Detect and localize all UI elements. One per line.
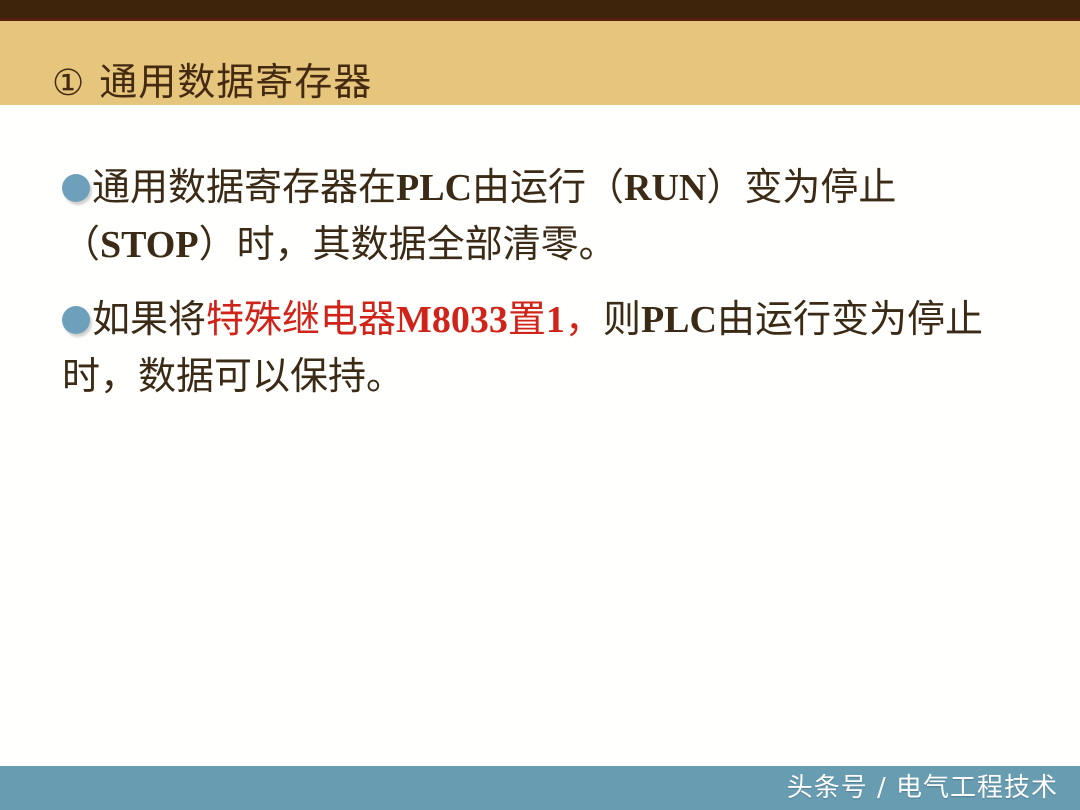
bullet-1-seg-5: STOP: [100, 224, 199, 266]
bullet-dot-icon: [62, 174, 90, 202]
bullet-2-seg-1: 特殊继电器: [206, 299, 396, 341]
bullet-1-seg-1: PLC: [396, 167, 472, 209]
bullet-2-seg-4: 1: [546, 299, 565, 341]
title-label: 通用数据寄存器: [99, 62, 372, 104]
bullet-2-seg-6: 则: [603, 299, 641, 341]
title-marker-icon: ①: [52, 63, 85, 104]
slide-root: ①通用数据寄存器 通用数据寄存器在PLC由运行（RUN）变为停止（STOP）时，…: [0, 0, 1080, 810]
bullet-dot-icon: [62, 306, 90, 334]
bullet-2-seg-5: ，: [565, 299, 603, 341]
page-title: ①通用数据寄存器: [52, 51, 372, 116]
slide-content: 通用数据寄存器在PLC由运行（RUN）变为停止（STOP）时，其数据全部清零。 …: [62, 160, 1022, 424]
bullet-item-2: 如果将特殊继电器M8033置1，则PLC由运行变为停止时，数据可以保持。: [62, 292, 1022, 406]
header-title-band: ①通用数据寄存器: [0, 21, 1080, 105]
bullet-paragraph: 通用数据寄存器在PLC由运行（RUN）变为停止（STOP）时，其数据全部清零。: [62, 160, 1022, 274]
bullet-1-seg-3: RUN: [624, 167, 706, 209]
bullet-2-seg-2: M8033: [396, 299, 508, 341]
bullet-2-seg-3: 置: [508, 299, 546, 341]
bullet-2-seg-0: 如果将: [92, 299, 206, 341]
header-top-accent-band: [0, 0, 1080, 18]
bullet-1-seg-6: ）时，其数据全部清零。: [199, 224, 617, 266]
bullet-1-seg-2: 由运行（: [472, 167, 624, 209]
bullet-item-1: 通用数据寄存器在PLC由运行（RUN）变为停止（STOP）时，其数据全部清零。: [62, 160, 1022, 274]
bullet-2-seg-7: PLC: [641, 299, 717, 341]
footer-watermark: 头条号 / 电气工程技术: [787, 766, 1058, 810]
bullet-paragraph: 如果将特殊继电器M8033置1，则PLC由运行变为停止时，数据可以保持。: [62, 292, 1022, 406]
bullet-1-seg-0: 通用数据寄存器在: [92, 167, 396, 209]
